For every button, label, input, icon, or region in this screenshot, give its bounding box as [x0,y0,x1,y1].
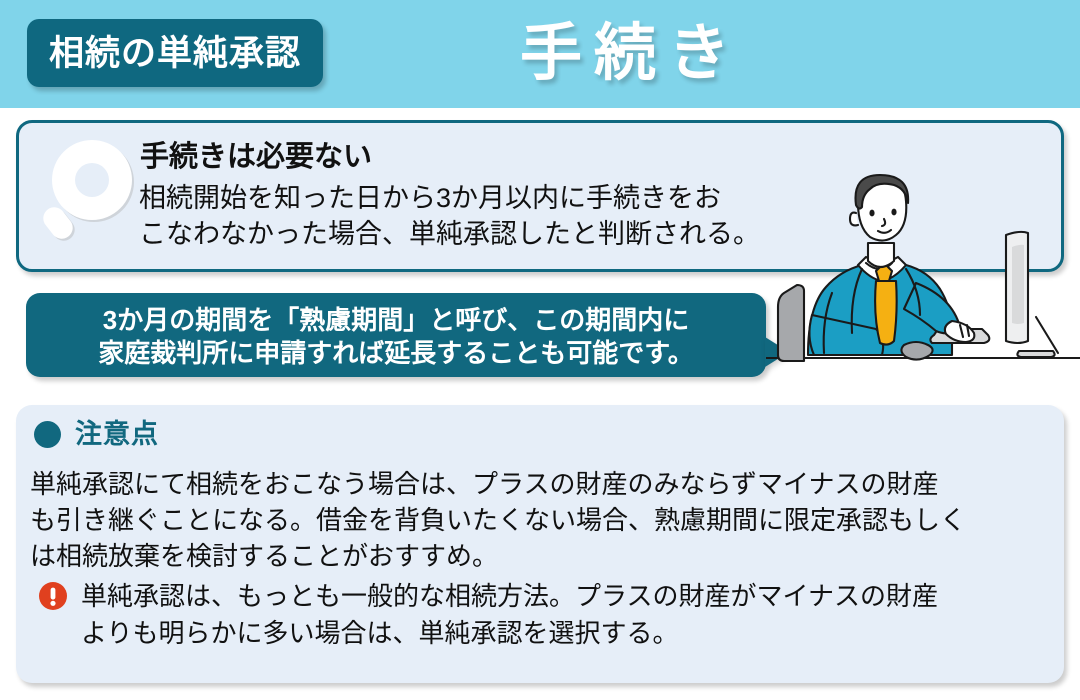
header-badge-label: 相続の単純承認 [49,36,301,71]
caution-body-text: 単純承認にて相続をおこなう場合は、プラスの財産のみならずマイナスの財産 も引き継… [30,466,1050,574]
speech-bubble-text: 3か月の期間を「熟慮期間」と呼び、この期間内に 家庭裁判所に申請すれば延長するこ… [26,304,766,370]
caution-note-row: 単純承認は、もっとも一般的な相続方法。プラスの財産がマイナスの財産 よりも明らか… [38,578,1048,652]
filled-circle-bullet-icon [34,421,61,448]
speech-bubble: 3か月の期間を「熟慮期間」と呼び、この期間内に 家庭裁判所に申請すれば延長するこ… [26,293,766,377]
magnifier-icon [42,138,134,250]
page-title: 手続き [520,12,742,96]
info-card-body: 相続開始を知った日から3か月以内に手続きをお こなわなかった場合、単純承認したと… [139,180,760,252]
caution-note-text: 単純承認は、もっとも一般的な相続方法。プラスの財産がマイナスの財産 よりも明らか… [81,578,938,652]
businessman-at-computer-illustration [766,165,1080,397]
header-badge: 相続の単純承認 [27,19,323,87]
caution-heading-label: 注意点 [75,419,159,449]
exclamation-icon [38,581,68,611]
caution-heading-row: 注意点 [34,419,159,449]
info-card-heading: 手続きは必要ない [140,139,372,175]
